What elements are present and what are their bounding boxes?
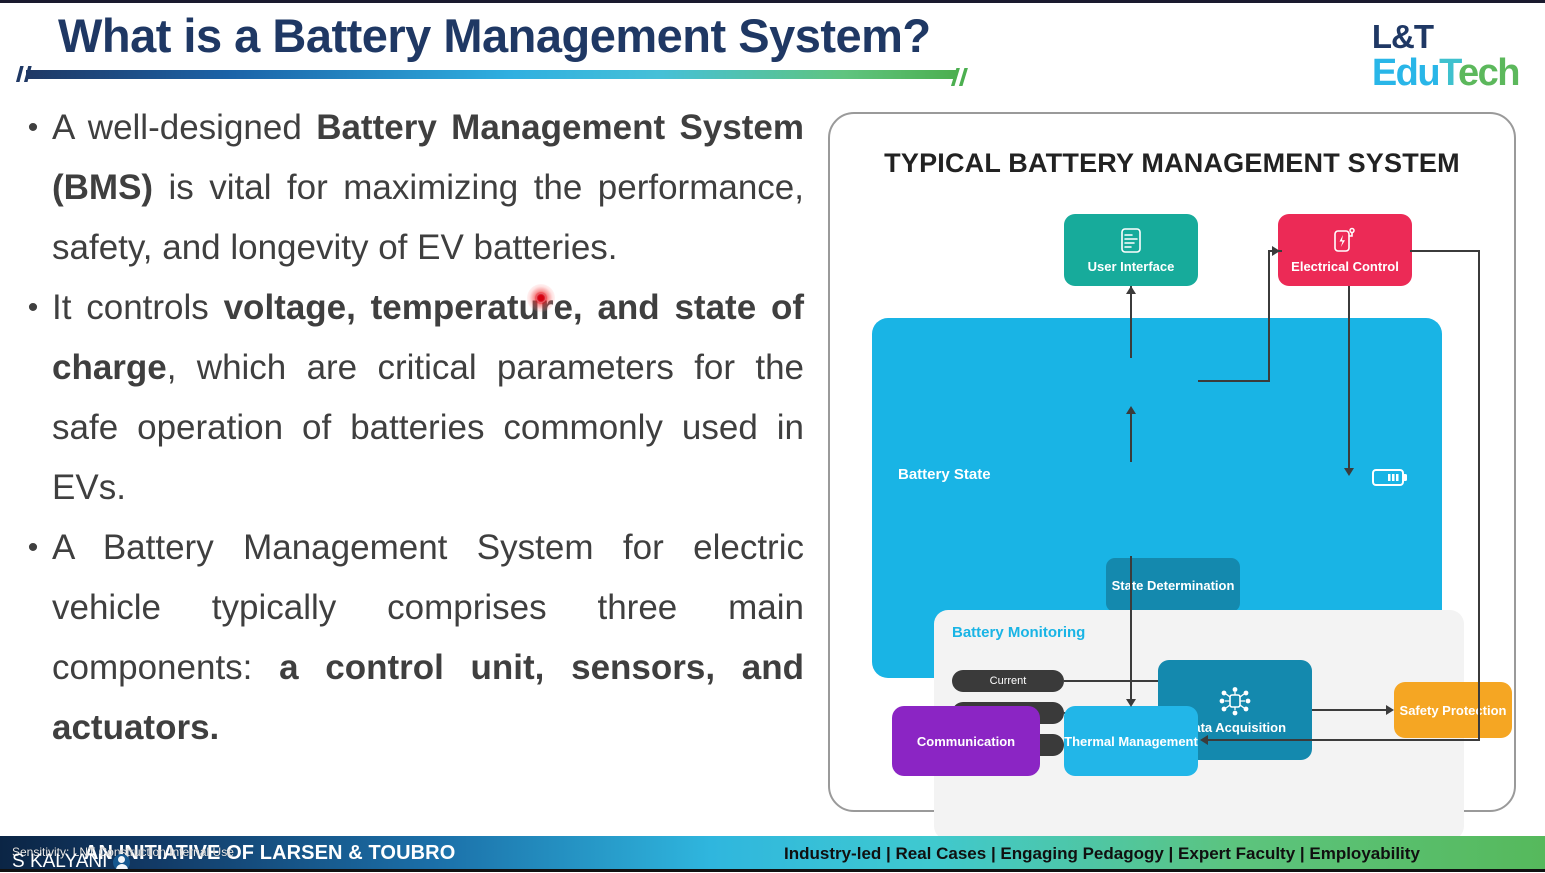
bms-diagram: TYPICAL BATTERY MANAGEMENT SYSTEM Batter… <box>828 112 1516 812</box>
logo-edu-part: Edu <box>1372 52 1439 94</box>
charging-station-icon <box>1332 227 1358 255</box>
logo-lt-text: L&T <box>1372 20 1519 53</box>
battery-state-panel: Battery State State Determination Batter… <box>872 318 1442 678</box>
connector-ec-to-safety <box>1348 286 1350 470</box>
connector-ec-right <box>1410 250 1480 252</box>
arrowhead-data-to-thermal <box>1126 699 1136 707</box>
laser-pointer-cursor <box>527 284 555 312</box>
logo-edutech-text: EduTech <box>1372 54 1519 92</box>
bullet-text: A well-designed Battery Management Syste… <box>52 98 804 278</box>
connector-to-thermal-horiz <box>1208 739 1480 741</box>
arrowhead-data-to-safety <box>1386 705 1394 715</box>
battery-state-label: Battery State <box>898 466 991 483</box>
logo-ech-part: ech <box>1458 52 1519 94</box>
slide-body-text: •A well-designed Battery Management Syst… <box>14 98 804 758</box>
node-data-acquisition-label: Data Acquisition <box>1184 720 1286 735</box>
connector-data-to-state <box>1130 408 1132 462</box>
bullet-item: •A well-designed Battery Management Syst… <box>14 98 804 278</box>
battery-icon <box>1372 466 1408 488</box>
node-safety-protection[interactable]: Safety Protection <box>1394 682 1512 738</box>
underline-gradient-bar <box>26 70 956 79</box>
lnt-edutech-logo: L&T EduTech <box>1372 20 1519 92</box>
connector-current-to-data <box>1064 680 1160 682</box>
connector-state-to-ui <box>1130 286 1132 358</box>
node-communication[interactable]: Communication <box>892 706 1040 776</box>
connector-ec-right-down <box>1478 250 1480 741</box>
bullet-text: A Battery Management System for electric… <box>52 518 804 758</box>
node-user-interface-label: User Interface <box>1088 259 1175 274</box>
logo-t-part: T <box>1439 52 1458 94</box>
node-safety-protection-label: Safety Protection <box>1400 703 1507 718</box>
node-thermal-management-label: Thermal Management <box>1064 734 1198 749</box>
connector-data-to-safety <box>1312 709 1386 711</box>
underline-tick-right-2 <box>958 68 974 86</box>
slide-top-border <box>0 0 1545 3</box>
node-electrical-control-label: Electrical Control <box>1291 259 1399 274</box>
arrowhead-to-thermal <box>1200 735 1208 745</box>
connector-data-to-thermal <box>1130 556 1132 704</box>
node-electrical-control[interactable]: Electrical Control <box>1278 214 1412 286</box>
bullet-plain-run: is vital for maximizing the performance,… <box>52 168 804 267</box>
node-user-interface[interactable]: User Interface <box>1064 214 1198 286</box>
document-form-icon <box>1119 227 1143 255</box>
bullet-text: It controls voltage, temperature, and st… <box>52 278 804 518</box>
battery-monitoring-label: Battery Monitoring <box>952 624 1085 641</box>
sensor-pill-current[interactable]: Current <box>952 670 1064 692</box>
diagram-title: TYPICAL BATTERY MANAGEMENT SYSTEM <box>830 148 1514 179</box>
node-communication-label: Communication <box>917 734 1015 749</box>
connector-state-to-ec-vert <box>1268 250 1270 382</box>
bullet-marker-icon: • <box>14 518 52 578</box>
chip-network-icon <box>1218 686 1252 716</box>
bullet-marker-icon: • <box>14 278 52 338</box>
bullet-plain-run: A well-designed <box>52 108 316 147</box>
connector-state-to-ec-horiz <box>1198 380 1270 382</box>
laser-pointer-core <box>536 293 546 303</box>
title-underline-decoration <box>8 66 958 82</box>
arrowhead-state-to-ui <box>1126 286 1136 294</box>
node-state-determination[interactable]: State Determination <box>1106 558 1240 612</box>
arrowhead-to-electrical-control <box>1272 246 1280 256</box>
node-thermal-management[interactable]: Thermal Management <box>1064 706 1198 776</box>
avatar <box>113 854 130 871</box>
bullet-item: •It controls voltage, temperature, and s… <box>14 278 804 518</box>
footer-tagline-text: Industry-led | Real Cases | Engaging Ped… <box>784 844 1420 864</box>
page-title: What is a Battery Management System? <box>58 8 931 63</box>
arrowhead-ec-to-safety <box>1344 468 1354 476</box>
bullet-item: •A Battery Management System for electri… <box>14 518 804 758</box>
bullet-plain-run: It controls <box>52 288 224 327</box>
arrowhead-data-to-state <box>1126 406 1136 414</box>
bullet-marker-icon: • <box>14 98 52 158</box>
